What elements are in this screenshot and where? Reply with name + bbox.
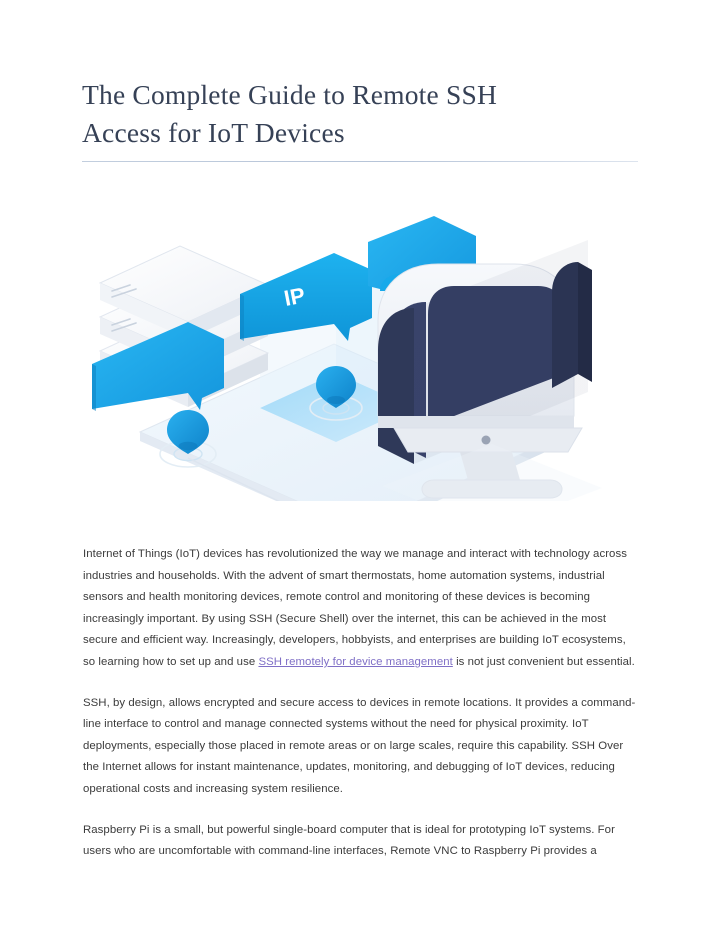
title-block: The Complete Guide to Remote SSH Access … xyxy=(82,76,638,162)
paragraph-2-text: SSH, by design, allows encrypted and sec… xyxy=(83,697,635,795)
paragraph-2: SSH, by design, allows encrypted and sec… xyxy=(83,693,639,801)
paragraph-1: Internet of Things (IoT) devices has rev… xyxy=(83,544,639,674)
article-body: Internet of Things (IoT) devices has rev… xyxy=(83,544,639,863)
hero-illustration: IP xyxy=(82,196,638,501)
paragraph-3-text: Raspberry Pi is a small, but powerful si… xyxy=(83,824,615,858)
inline-link-ssh-remote-management[interactable]: SSH remotely for device management xyxy=(258,656,452,668)
iot-remote-ssh-illustration-svg: IP xyxy=(82,196,638,501)
title-divider xyxy=(82,161,638,162)
paragraph-1-text-a: Internet of Things (IoT) devices has rev… xyxy=(83,548,627,668)
paragraph-3: Raspberry Pi is a small, but powerful si… xyxy=(83,820,639,863)
paragraph-1-text-b: is not just convenient but essential. xyxy=(453,656,635,668)
document-page: The Complete Guide to Remote SSH Access … xyxy=(0,0,720,931)
page-title: The Complete Guide to Remote SSH Access … xyxy=(82,76,638,152)
